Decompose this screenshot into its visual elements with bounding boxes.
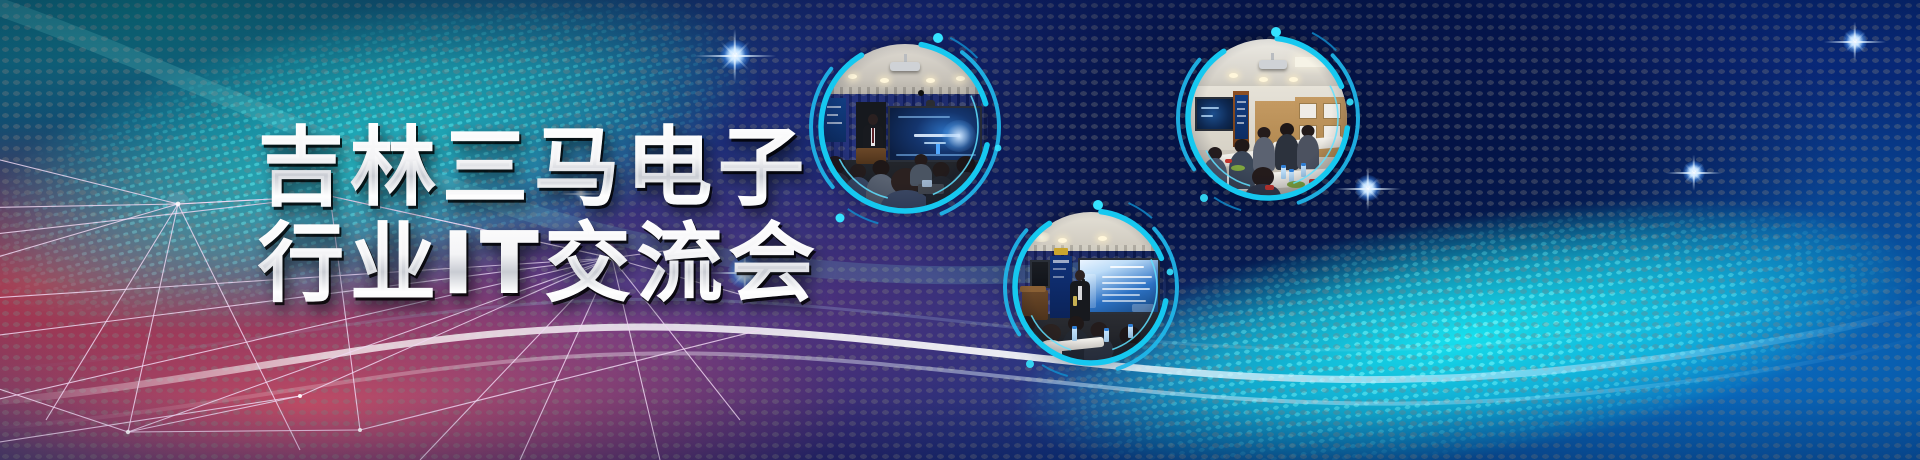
event-banner: 吉林三马电子 行业IT交流会 — [0, 0, 1920, 460]
title-line-1: 吉林三马电子 — [258, 118, 821, 218]
photo-circle-conference-presenter[interactable] — [800, 22, 1010, 232]
banner-title: 吉林三马电子 行业IT交流会 — [258, 118, 821, 314]
ring-frame-1 — [800, 22, 1010, 232]
title-line-2: 行业IT交流会 — [258, 214, 821, 314]
photo-circle-meeting-attendees[interactable] — [1168, 18, 1368, 218]
ring-frame-3 — [996, 192, 1186, 382]
photo-circle-speaker-presentation[interactable] — [996, 192, 1186, 382]
ring-frame-2 — [1168, 18, 1368, 218]
